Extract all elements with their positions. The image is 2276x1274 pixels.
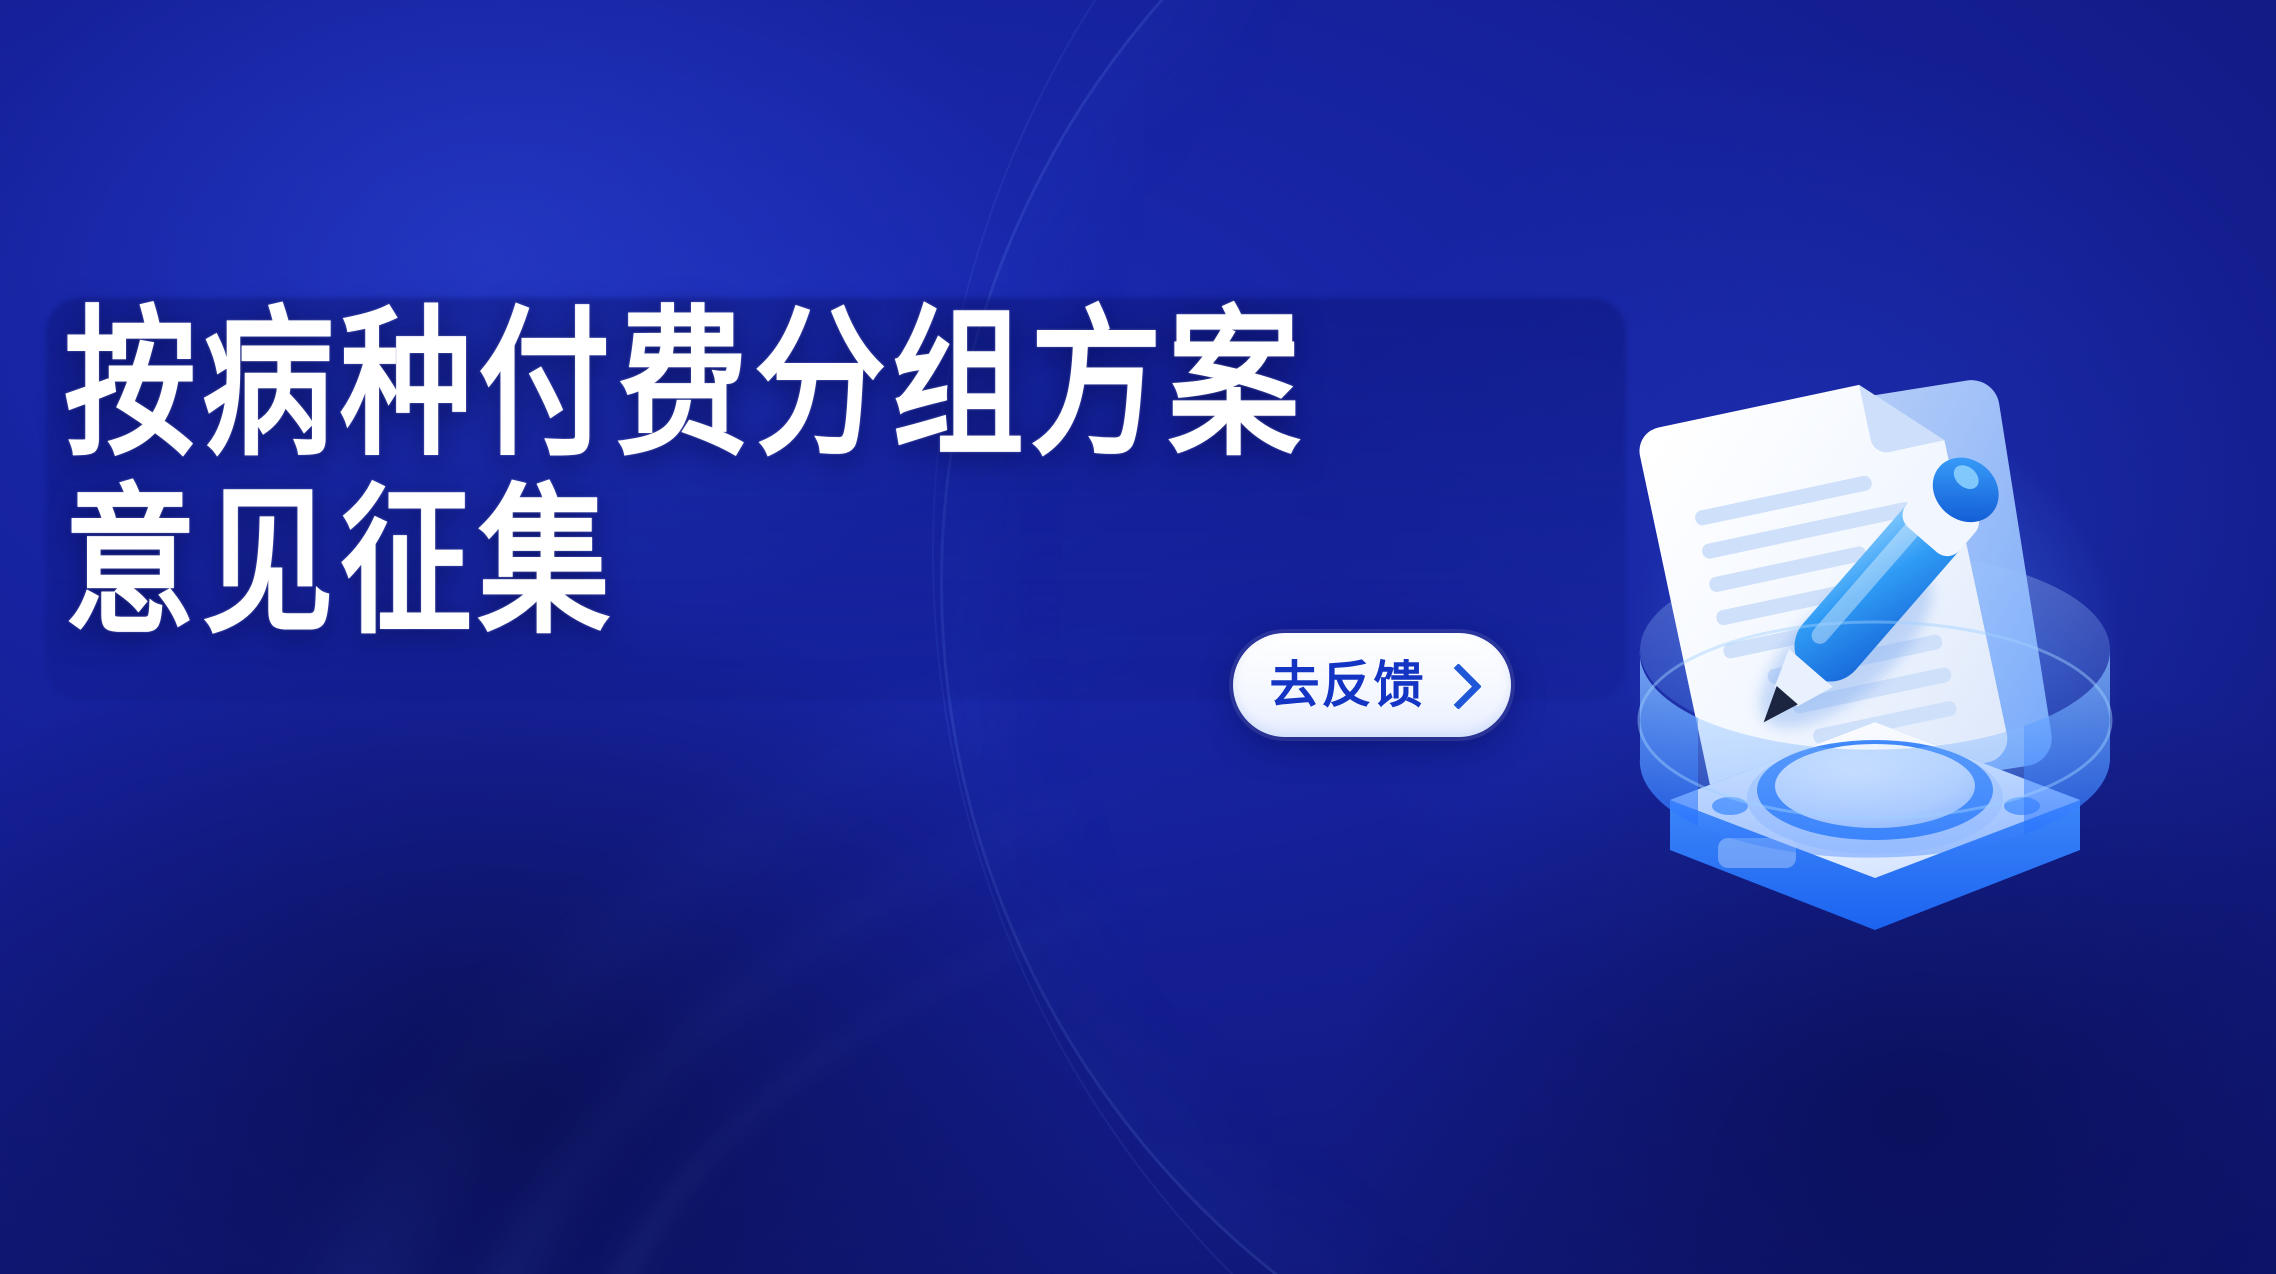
go-to-feedback-button[interactable]: 去反馈 <box>1233 633 1511 737</box>
page-title-line-2: 意见征集 <box>64 474 1306 652</box>
go-to-feedback-button-label: 去反馈 <box>1270 660 1426 710</box>
document-with-pen-illustration <box>1610 330 2130 950</box>
promo-banner: 按病种付费分组方案 意见征集 去反馈 <box>0 0 2276 1274</box>
chevron-right-icon <box>1435 663 1482 710</box>
page-title-line-1: 按病种付费分组方案 <box>64 296 1306 474</box>
page-title: 按病种付费分组方案 意见征集 <box>64 296 1306 620</box>
